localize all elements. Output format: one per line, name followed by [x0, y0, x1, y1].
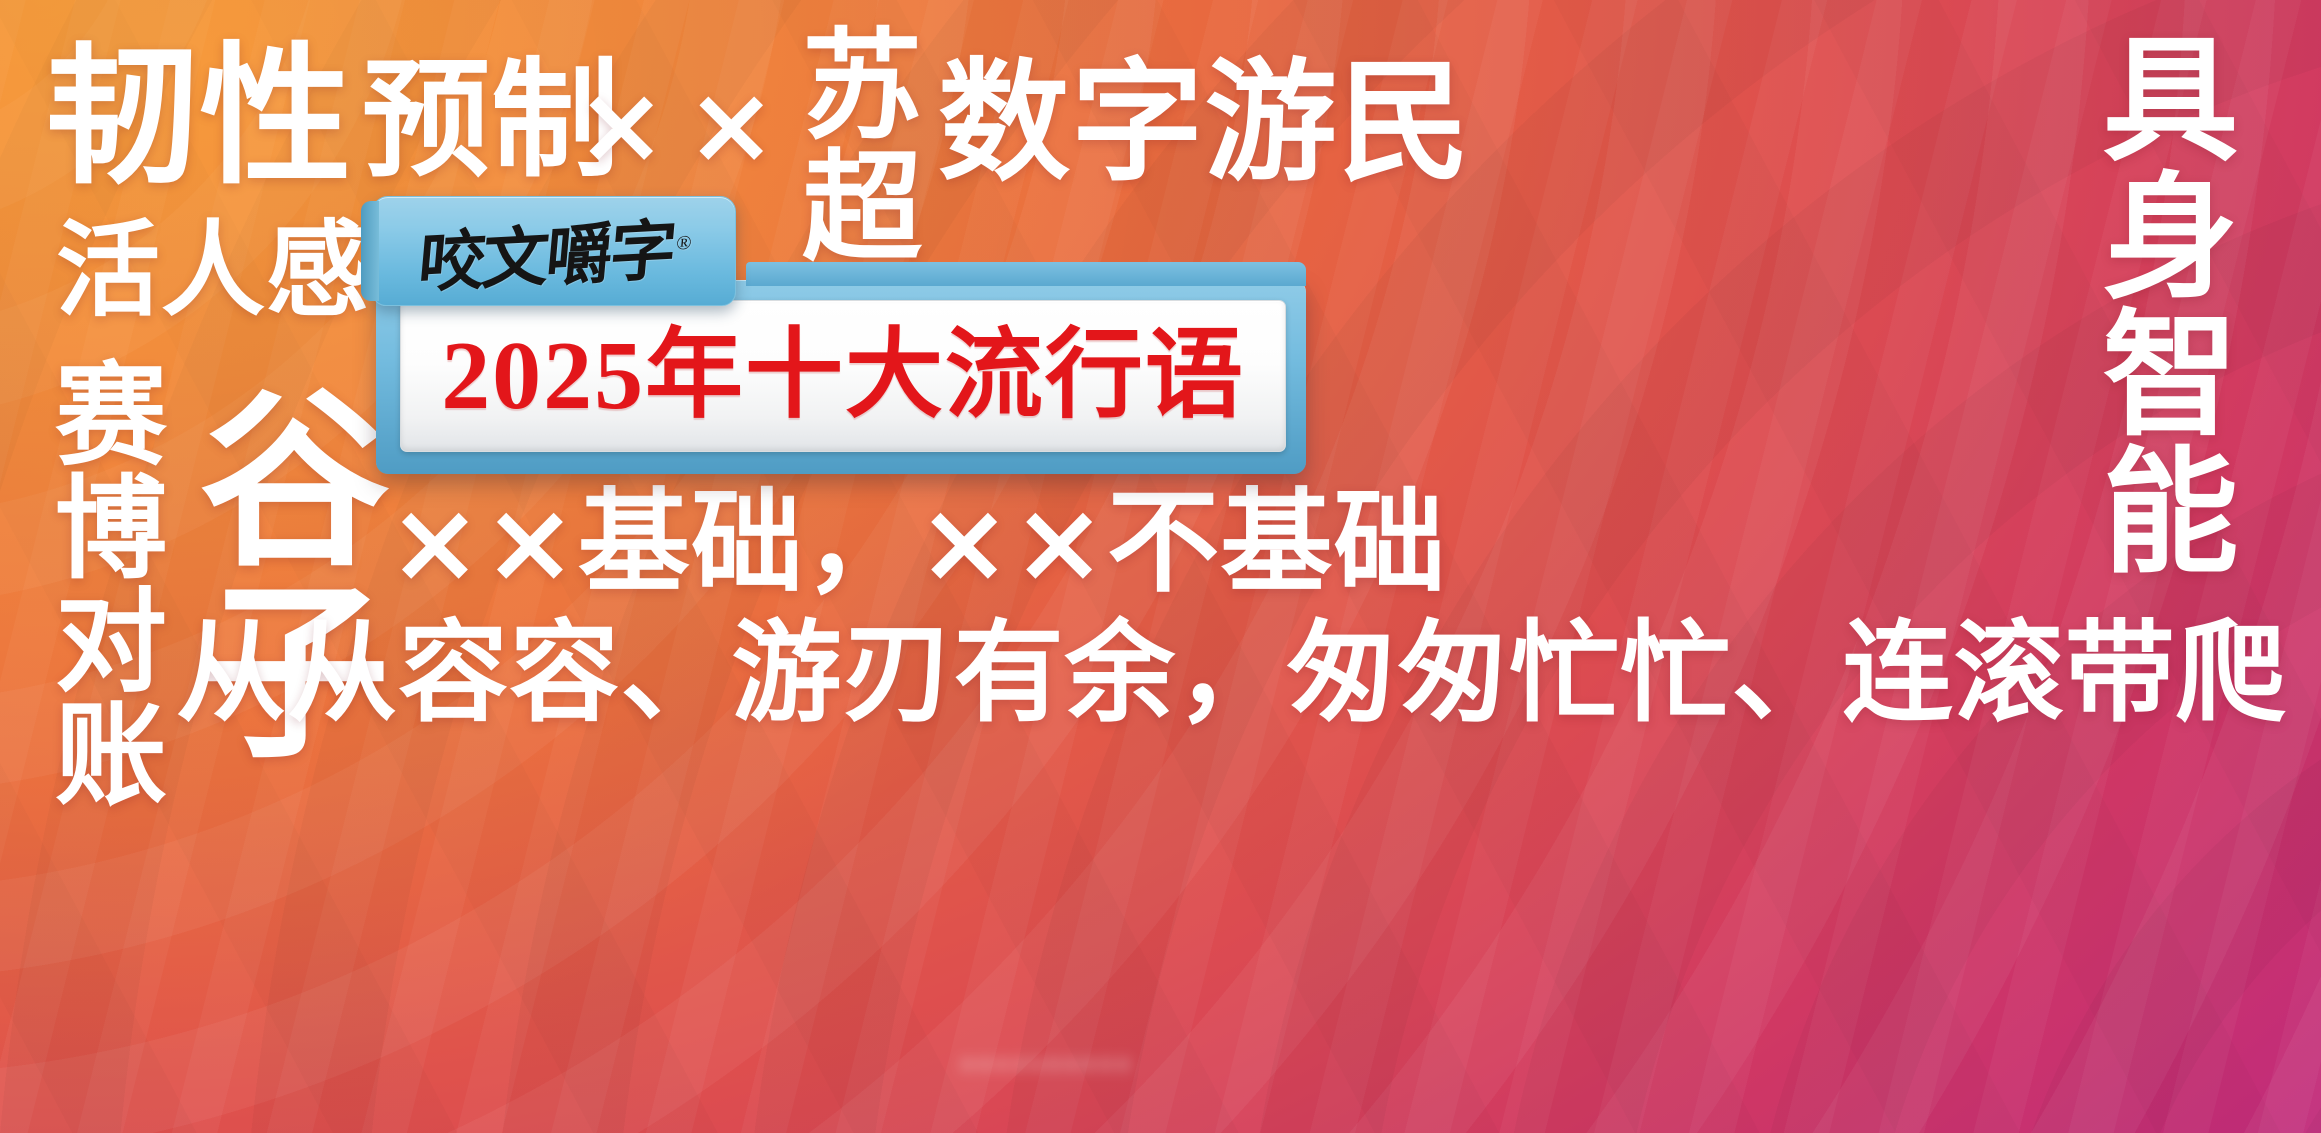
buzzword-jushenzhineng: 具身智能 — [2090, 28, 2226, 577]
watermark-text: ▪▪▪▪▪▪▪▪▪▪ — [960, 1042, 1400, 1100]
page-title: 2025年十大流行语 — [441, 327, 1245, 425]
logo-brand-name: 咬文嚼字 — [415, 215, 676, 301]
buzzword-jichu-phrase: ××基础，××不基础 — [388, 490, 1447, 598]
poster-canvas: 韧性 预制 × × 苏超 数字游民 具身智能 活人感 赛博对账 谷子 ××基础，… — [0, 0, 2321, 1133]
title-plaque: 咬文嚼字® 2025年十大流行语 — [372, 196, 1312, 476]
buzzword-huorengan: 活人感 — [56, 222, 371, 322]
tab-fold — [361, 201, 379, 301]
registered-trademark-icon: ® — [675, 232, 690, 255]
buzzword-renxing: 韧性 — [46, 44, 353, 190]
buzzword-shuziyoumin: 数字游民 — [938, 60, 1471, 187]
buzzword-placeholder-x-1: × — [576, 74, 668, 178]
buzzword-placeholder-x-2: × — [686, 74, 778, 178]
title-plate: 2025年十大流行语 — [400, 300, 1286, 452]
plaque-frame-shelf — [746, 262, 1306, 286]
buzzword-saibroduizhang: 赛博对账 — [44, 356, 156, 808]
buzzword-bottom-phrase: 从从容容、游刃有余，匆匆忙忙、连滚带爬 — [176, 622, 2287, 728]
magazine-logo-tab[interactable]: 咬文嚼字® — [372, 196, 736, 306]
magazine-logo-text: 咬文嚼字® — [415, 196, 693, 306]
